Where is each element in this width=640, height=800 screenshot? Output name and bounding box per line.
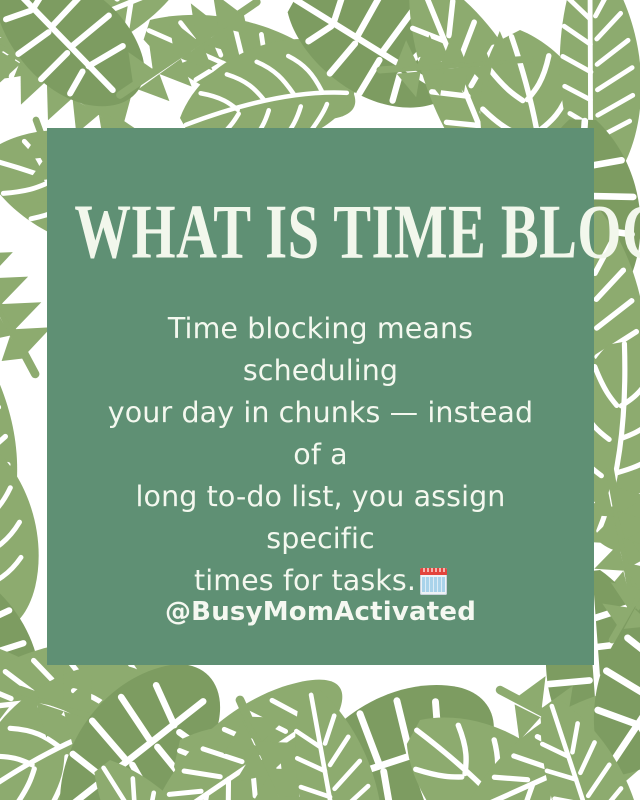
calendar-spiral-rings (422, 568, 445, 572)
social-handle: @BusyMomActivated (47, 597, 594, 627)
poster-canvas: WHAT IS TIME BLOCKING? Time blocking mea… (0, 0, 640, 800)
card-body-text: Time blocking means scheduling your day … (91, 308, 550, 602)
body-line-1: Time blocking means scheduling (91, 308, 550, 392)
body-line-4-wrap: times for tasks. (91, 560, 550, 602)
page-title: WHAT IS TIME BLOCKING? (74, 194, 566, 271)
body-line-4: times for tasks. (194, 564, 416, 597)
spiral-calendar-icon (420, 568, 447, 595)
body-line-2: your day in chunks — instead of a (91, 392, 550, 476)
body-line-3: long to-do list, you assign specific (91, 476, 550, 560)
content-card: WHAT IS TIME BLOCKING? Time blocking mea… (47, 128, 594, 665)
calendar-grid (422, 577, 445, 592)
